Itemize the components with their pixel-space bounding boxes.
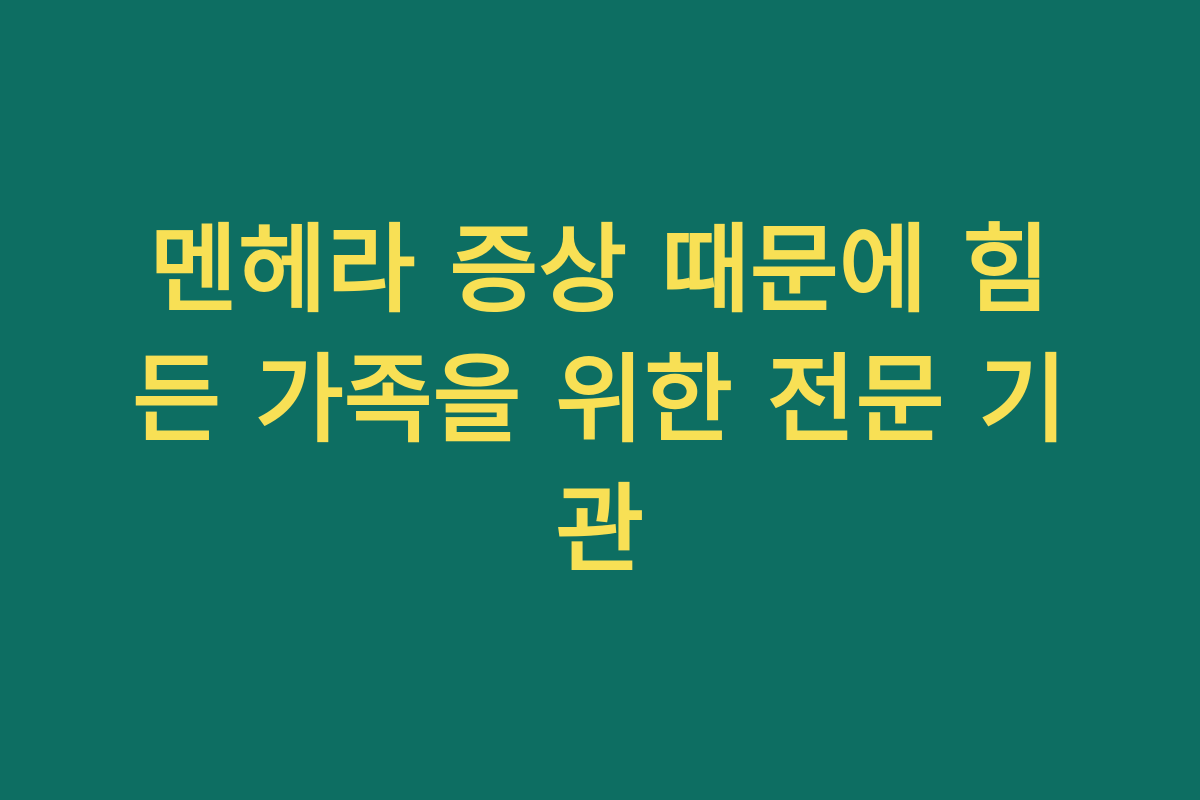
- headline-line-1: 멘헤라 증상 때문에 힘: [112, 205, 1088, 335]
- headline-line-3: 관: [112, 465, 1088, 595]
- page-title: 멘헤라 증상 때문에 힘 든 가족을 위한 전문 기 관: [112, 205, 1088, 595]
- headline-block: 멘헤라 증상 때문에 힘 든 가족을 위한 전문 기 관: [0, 205, 1200, 595]
- banner-canvas: 멘헤라 증상 때문에 힘 든 가족을 위한 전문 기 관: [0, 0, 1200, 800]
- headline-line-2: 든 가족을 위한 전문 기: [112, 335, 1088, 465]
